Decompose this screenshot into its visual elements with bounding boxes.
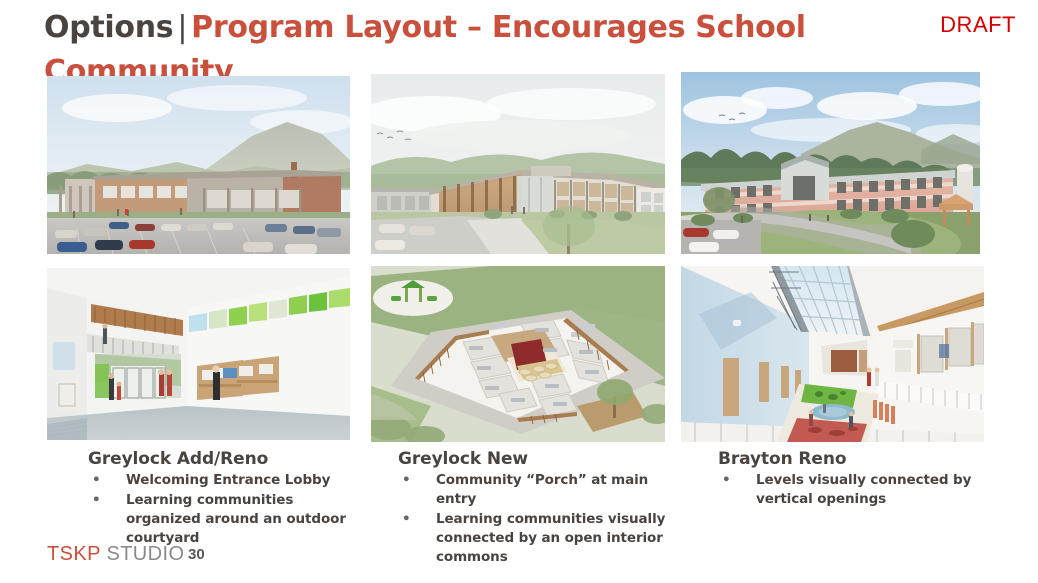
list-item-label: Learning communities organized around an… xyxy=(126,492,346,546)
logo-studio: STUDIO xyxy=(100,543,184,565)
bullet-icon: • xyxy=(402,510,411,529)
draft-watermark: DRAFT xyxy=(940,12,1016,38)
page-number: 30 xyxy=(188,546,205,563)
image-greylock-addreno-exterior xyxy=(47,76,350,254)
image-greylock-new-aerial xyxy=(371,266,665,442)
caption-brayton-reno: Brayton Reno • Levels visually connected… xyxy=(718,448,998,510)
caption-title: Brayton Reno xyxy=(718,448,998,470)
caption-title: Greylock New xyxy=(398,448,688,470)
list-item-label: Learning communities visually connected … xyxy=(436,511,665,565)
caption-greylock-new: Greylock New • Community “Porch” at main… xyxy=(398,448,688,568)
caption-bullet-list: • Community “Porch” at main entry • Lear… xyxy=(398,471,688,567)
page-title-separator: | xyxy=(173,10,191,45)
logo-tskp: TSKP xyxy=(47,543,100,565)
list-item: • Learning communities visually connecte… xyxy=(398,510,688,567)
bullet-icon: • xyxy=(402,471,411,490)
bullet-icon: • xyxy=(92,471,101,490)
list-item: • Welcoming Entrance Lobby xyxy=(88,471,368,490)
list-item: • Learning communities organized around … xyxy=(88,491,368,548)
list-item-label: Levels visually connected by vertical op… xyxy=(756,472,971,507)
list-item-label: Welcoming Entrance Lobby xyxy=(126,472,330,488)
image-greylock-addreno-lobby xyxy=(47,268,350,440)
tskp-studio-logo: TSKP STUDIO xyxy=(47,543,184,566)
image-greylock-new-exterior xyxy=(371,74,665,254)
caption-title: Greylock Add/Reno xyxy=(88,448,368,470)
caption-greylock-addreno: Greylock Add/Reno • Welcoming Entrance L… xyxy=(88,448,368,549)
image-brayton-atrium xyxy=(681,266,984,442)
list-item: • Community “Porch” at main entry xyxy=(398,471,688,509)
list-item: • Levels visually connected by vertical … xyxy=(718,471,998,509)
bullet-icon: • xyxy=(722,471,731,490)
list-item-label: Community “Porch” at main entry xyxy=(436,472,648,507)
caption-bullet-list: • Welcoming Entrance Lobby • Learning co… xyxy=(88,471,368,548)
bullet-icon: • xyxy=(92,491,101,510)
page-title-prefix: Options xyxy=(44,10,173,45)
caption-bullet-list: • Levels visually connected by vertical … xyxy=(718,471,998,509)
image-brayton-exterior xyxy=(681,72,980,254)
